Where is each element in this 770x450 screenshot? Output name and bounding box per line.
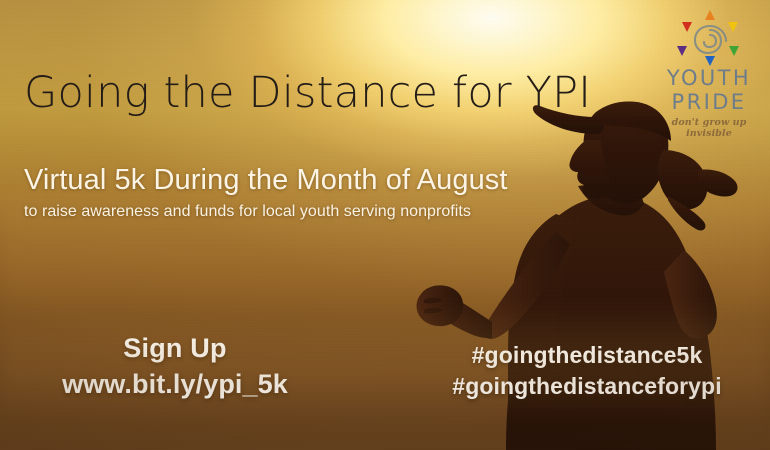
poster-canvas: Going the Distance for YPI Virtual 5k Du… — [0, 0, 770, 450]
vignette-overlay — [0, 0, 770, 450]
